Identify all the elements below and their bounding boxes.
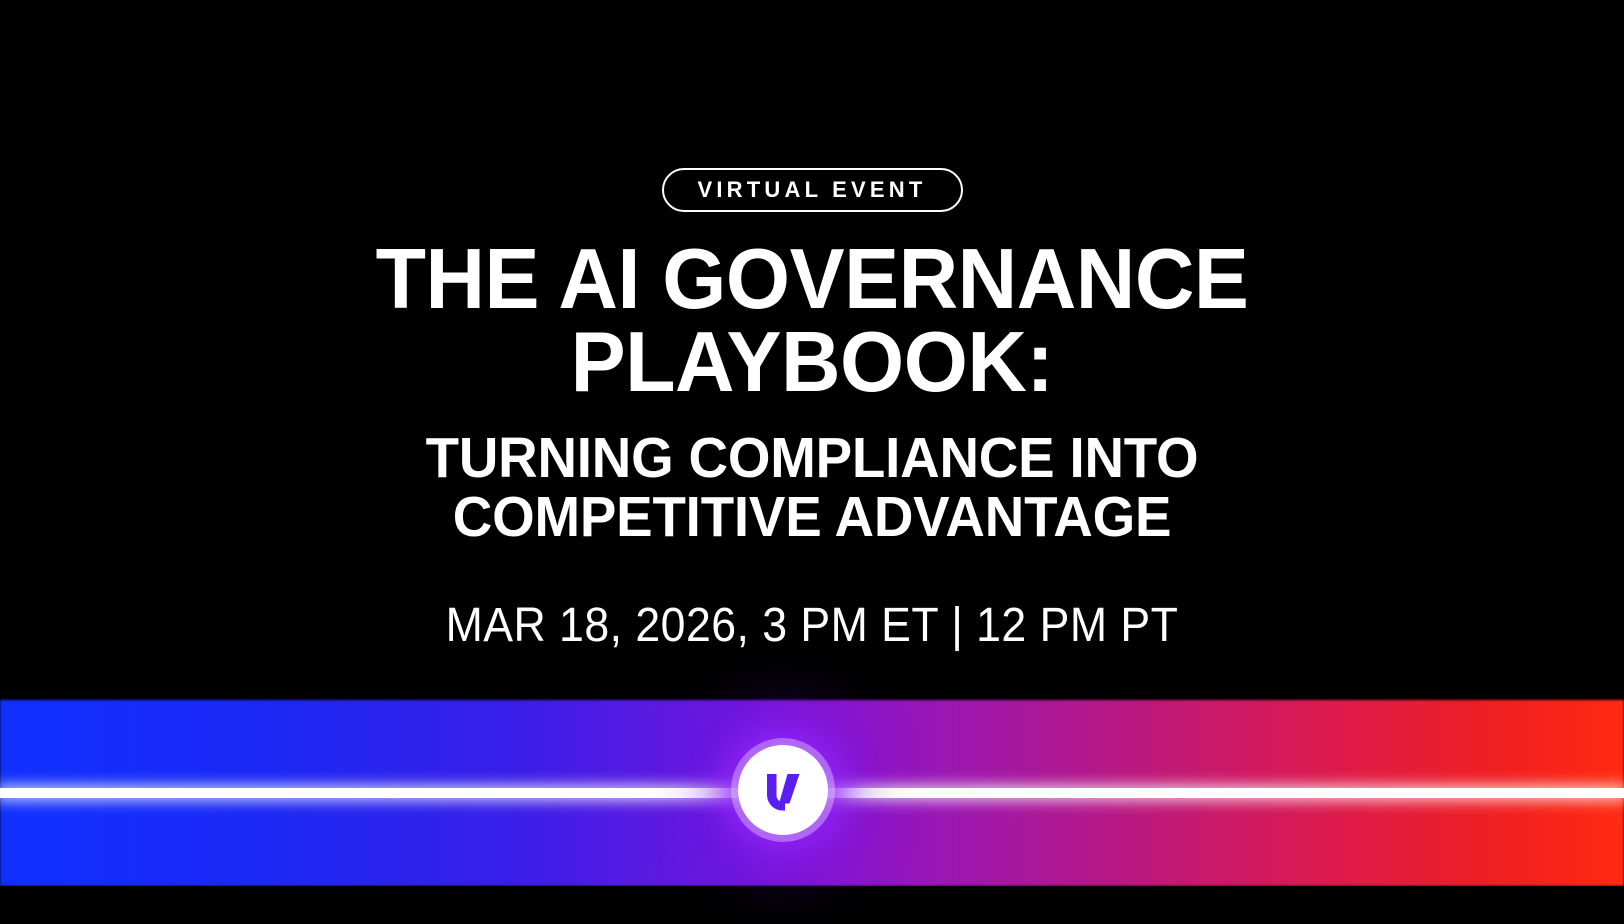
virtual-event-badge: VIRTUAL EVENT xyxy=(662,168,963,212)
bottom-background-fill xyxy=(0,886,1624,924)
event-content: VIRTUAL EVENT THE AI GOVERNANCE PLAYBOOK… xyxy=(0,0,1624,760)
event-headline: THE AI GOVERNANCE PLAYBOOK: xyxy=(322,238,1302,405)
brand-logo-medallion xyxy=(738,745,828,835)
brand-u-logo-icon xyxy=(756,763,810,817)
event-subheadline: TURNING COMPLIANCE INTO COMPETITIVE ADVA… xyxy=(327,429,1297,549)
event-promo-card: VIRTUAL EVENT THE AI GOVERNANCE PLAYBOOK… xyxy=(0,0,1624,924)
event-datetime: MAR 18, 2026, 3 PM ET | 12 PM PT xyxy=(446,602,1179,650)
